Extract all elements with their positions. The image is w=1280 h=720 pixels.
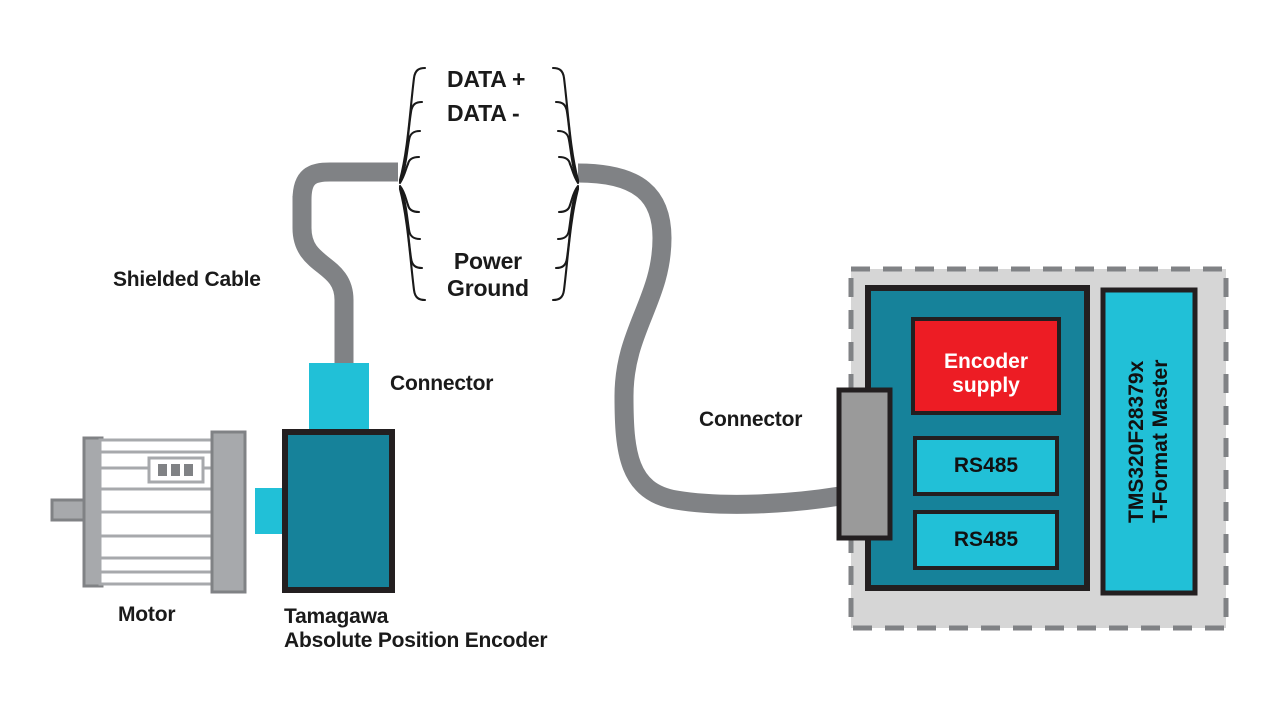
label-power-ground: Power Ground <box>447 248 529 301</box>
diagram-canvas: Shielded Cable Connector Connector Motor… <box>0 0 1280 720</box>
control-board-group <box>0 0 1280 720</box>
label-data-plus: DATA + <box>447 66 525 93</box>
mcu-block <box>1103 290 1195 593</box>
encoder-supply-block <box>913 319 1059 413</box>
board-connector <box>839 390 890 538</box>
label-motor: Motor <box>118 603 175 627</box>
rs485-block-bottom <box>915 512 1057 568</box>
label-connector-right: Connector <box>699 408 802 432</box>
label-encoder-name: Tamagawa Absolute Position Encoder <box>284 605 547 654</box>
rs485-block-top <box>915 438 1057 494</box>
label-connector-left: Connector <box>390 372 493 396</box>
label-data-minus: DATA - <box>447 100 519 127</box>
label-shielded-cable: Shielded Cable <box>113 268 261 292</box>
